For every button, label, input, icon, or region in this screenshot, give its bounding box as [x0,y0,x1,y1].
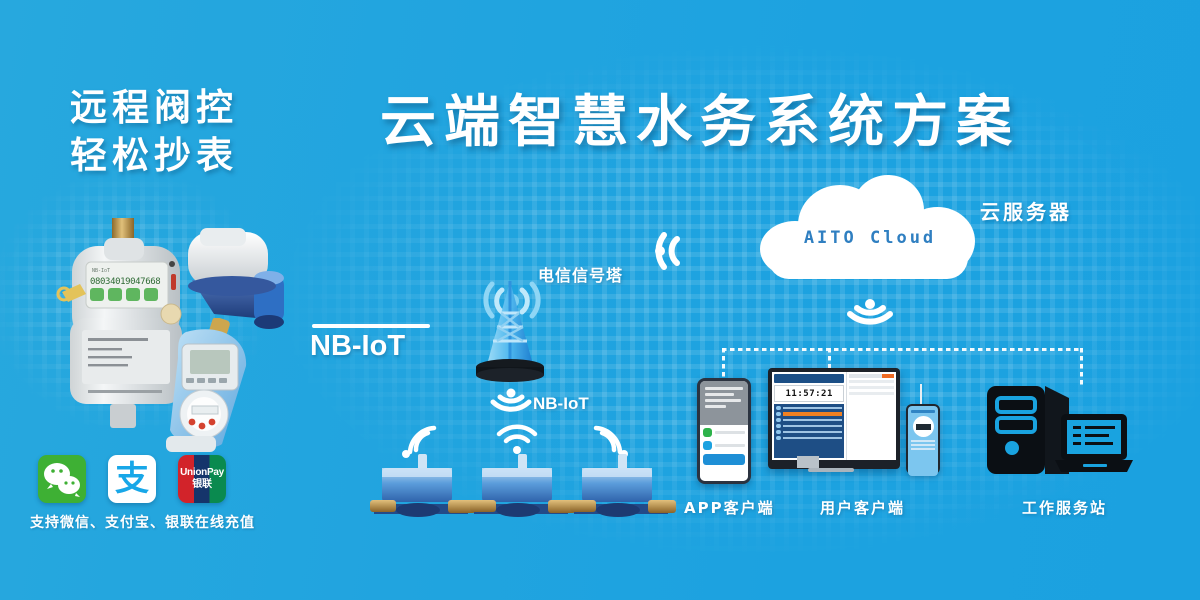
payment-caption: 支持微信、支付宝、银联在线充值 [30,512,255,532]
svg-text:08034019047668: 08034019047668 [90,277,160,287]
user-client-monitor[interactable]: 11:57:21 [768,368,900,469]
app-client-phone[interactable] [697,378,751,484]
left-headline-line2: 轻松抄表 [70,132,238,180]
connector-horizontal [722,348,1082,351]
work-station-icon[interactable] [985,382,1135,482]
wifi-signal-icon-tower-uplink [650,225,704,273]
tower-label: 电信信号塔 [538,262,623,286]
unionpay-icon[interactable]: UnionPay 银联 [178,455,226,503]
phone-cable [920,384,922,406]
monitor-stand [797,456,819,468]
nbiot-primary-label: NB-IoT [310,330,405,363]
cloud-server-label: 云服务器 [980,196,1072,225]
monitor-right-pane [847,372,896,460]
phone-primary-button[interactable] [703,454,745,465]
nbiot-water-meter-3 [568,452,678,527]
smart-water-meter-display [152,318,282,458]
telecom-tower-icon [470,275,550,385]
phone-body [700,425,748,481]
handheld-screen [908,406,938,476]
monitor-clock: 11:57:21 [774,385,844,402]
monitor-title-bar [774,374,844,383]
left-headline-line1: 远程阀控 [70,84,238,132]
alipay-icon[interactable]: 支 [108,455,156,503]
alipay-glyph: 支 [115,462,149,496]
poster-canvas: 远程阀控 轻松抄表 云端智慧水务系统方案 AITO Cloud 云服务器 [0,0,1200,600]
monitor-device-list [774,404,844,458]
monitor-left-pane: 11:57:21 [772,372,847,460]
phone-screen [700,381,748,481]
wifi-signal-icon-meter-2 [495,422,539,456]
wifi-signal-icon-cloud-downlink [842,298,898,344]
left-headline: 远程阀控 轻松抄表 [70,84,238,180]
monitor-base [808,468,854,472]
handheld-reader-phone[interactable] [906,404,940,474]
nbiot-water-meter-2 [468,452,578,527]
payment-icon-row: 支 UnionPay 银联 [38,455,226,503]
meter-dial-icon [913,416,934,437]
label-app-client: APP客户端 [684,497,775,518]
monitor-screen: 11:57:21 [772,372,896,460]
nbiot-water-meter-1 [368,452,478,527]
svg-text:NB-IoT: NB-IoT [92,268,110,274]
page-title: 云端智慧水务系统方案 [380,90,1020,156]
label-user-client: 用户客户端 [820,497,905,518]
connector-to-app-client [722,348,725,380]
label-work-station: 工作服务站 [1022,497,1107,518]
connector-to-user-client [828,348,831,370]
wechat-pay-icon[interactable] [38,455,86,503]
phone-header [700,381,748,425]
unionpay-line2: 银联 [192,479,211,491]
cloud-brand-text: AITO Cloud [795,228,945,248]
nbiot-secondary-label: NB-IoT [533,394,589,414]
unionpay-line1: UnionPay [180,467,224,479]
nbiot-underline [312,324,430,328]
